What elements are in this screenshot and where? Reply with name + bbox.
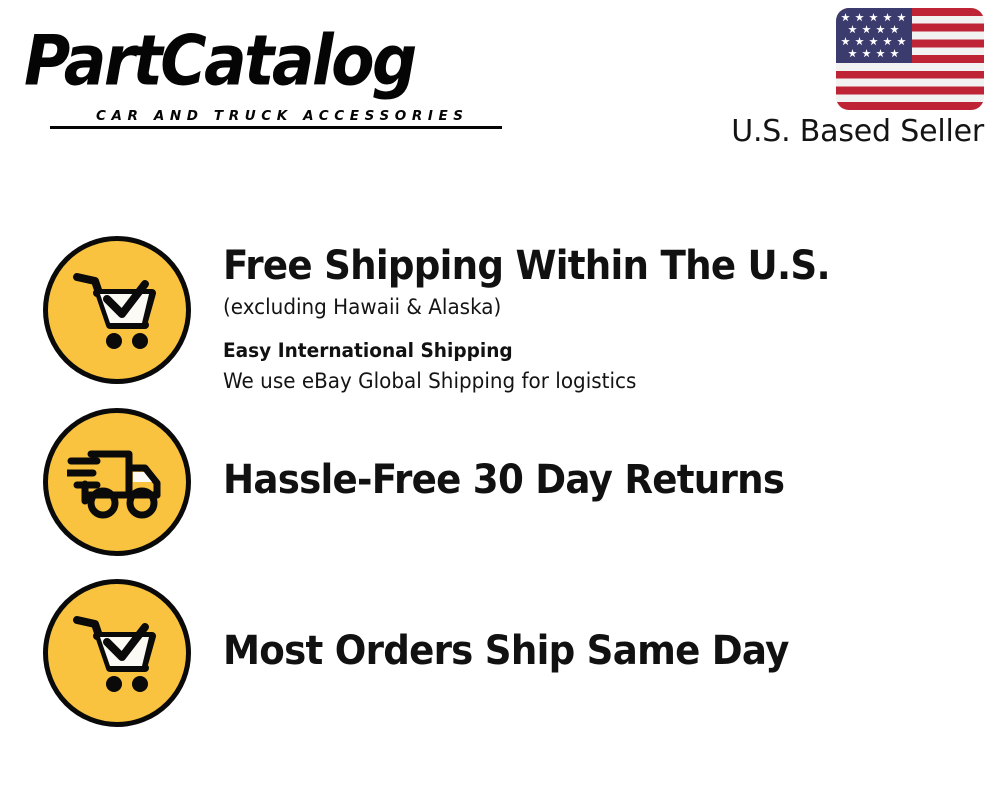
cart-check-icon [43, 236, 191, 384]
delivery-truck-icon [43, 408, 191, 556]
feature-secondary-title: Easy International Shipping [223, 336, 961, 366]
brand-wordmark: PartCatalog [24, 22, 503, 100]
feature-text-block: Free Shipping Within The U.S. (excluding… [191, 236, 1000, 396]
us-based-seller-label: U.S. Based Seller [700, 114, 986, 149]
brand-logo[interactable]: PartCatalog CAR AND TRUCK ACCESSORIES [24, 22, 494, 118]
page-header: PartCatalog CAR AND TRUCK ACCESSORIES [0, 0, 1000, 170]
feature-row: Hassle-Free 30 Day Returns [0, 408, 1000, 556]
feature-title: Most Orders Ship Same Day [223, 627, 946, 675]
us-based-seller-block: U.S. Based Seller [700, 8, 986, 149]
feature-text-block: Most Orders Ship Same Day [191, 579, 1000, 675]
feature-title: Hassle-Free 30 Day Returns [223, 456, 946, 504]
cart-check-icon [43, 579, 191, 727]
brand-underline-rule [50, 126, 502, 129]
flag-stars [836, 8, 912, 63]
feature-row: Free Shipping Within The U.S. (excluding… [0, 236, 1000, 396]
feature-subtitle: (excluding Hawaii & Alaska) [223, 292, 961, 322]
feature-secondary-text: We use eBay Global Shipping for logistic… [223, 366, 961, 396]
feature-row: Most Orders Ship Same Day [0, 579, 1000, 727]
brand-tagline: CAR AND TRUCK ACCESSORIES [96, 108, 469, 124]
us-flag-icon [836, 8, 984, 110]
feature-title: Free Shipping Within The U.S. [223, 242, 946, 290]
feature-text-block: Hassle-Free 30 Day Returns [191, 408, 1000, 504]
